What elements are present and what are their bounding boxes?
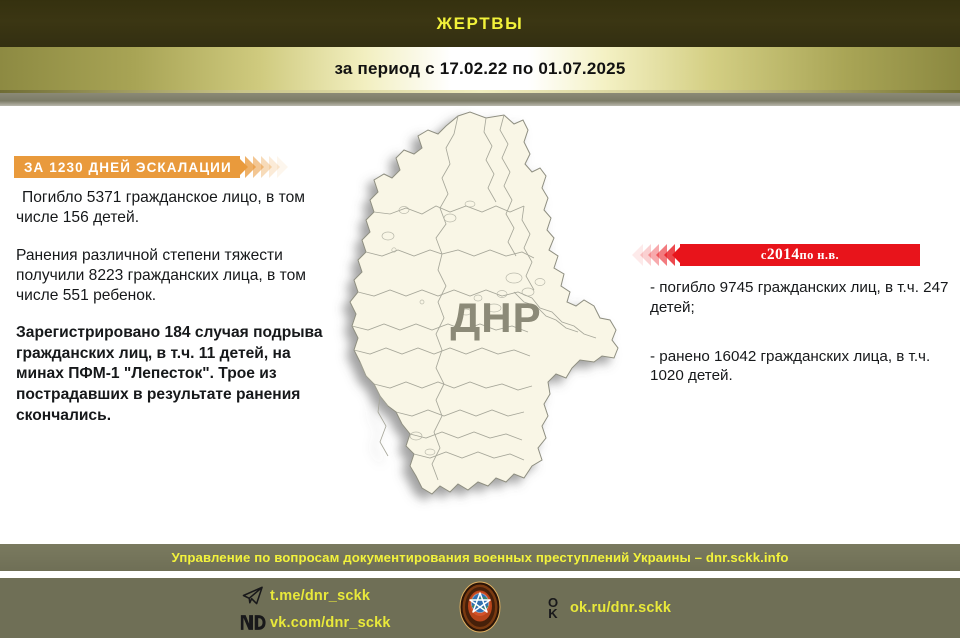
odnoklassniki-link-text: ok.ru/dnr.sckk: [570, 600, 671, 616]
social-link-odnoklassniki[interactable]: O K ok.ru/dnr.sckk: [536, 597, 786, 620]
vk-link-text: vk.com/dnr_sckk: [270, 615, 391, 631]
organization-emblem: [457, 580, 503, 634]
social-links-left: t.me/dnr_sckk vk.com/dnr_sckk: [236, 582, 466, 636]
social-link-vk[interactable]: vk.com/dnr_sckk: [236, 609, 466, 636]
chevron-right-icon: [277, 156, 288, 178]
chevron-left-icon: [664, 244, 675, 266]
stat-paragraph-mines: Зарегистрировано 184 случая подрыва граж…: [16, 323, 326, 426]
vk-icon: [236, 614, 270, 631]
dnr-map: ДНР: [318, 106, 648, 542]
main-stage: ЗА 1230 ДНЕЙ ЭСКАЛАЦИИ Погибло 5371 граж…: [0, 106, 960, 544]
telegram-icon: [236, 586, 270, 605]
ok-glyph-bottom: K: [548, 606, 557, 621]
escalation-stats-text: Погибло 5371 гражданское лицо, в том чис…: [16, 188, 326, 426]
footer-gap: [0, 571, 960, 578]
since-2014-badge: с 2014 по н.в.: [632, 244, 920, 266]
stat-paragraph-killed-2014: - погибло 9745 гражданских лиц, в т.ч. 2…: [650, 278, 950, 318]
escalation-badge-label: ЗА 1230 ДНЕЙ ЭСКАЛАЦИИ: [14, 156, 240, 178]
escalation-badge: ЗА 1230 ДНЕЙ ЭСКАЛАЦИИ: [14, 156, 288, 178]
map-region-label: ДНР: [426, 294, 566, 342]
since-2014-badge-label: с 2014 по н.в.: [680, 244, 920, 266]
ok-glyph: O K: [548, 597, 558, 620]
infographic-poster: ЖЕРТВЫ за период с 17.02.22 по 01.07.202…: [0, 0, 960, 638]
badge-suffix: по н.в.: [799, 248, 839, 263]
chevrons-right-group: [240, 156, 288, 178]
badge-year: 2014: [767, 246, 800, 264]
since-2014-stats-text: - погибло 9745 гражданских лиц, в т.ч. 2…: [650, 278, 950, 386]
stat-paragraph-killed: Погибло 5371 гражданское лицо, в том чис…: [16, 188, 326, 229]
chevrons-left-group: [632, 244, 680, 266]
gray-divider-band: [0, 93, 960, 106]
stat-paragraph-wounded: Ранения различной степени тяжести получи…: [16, 246, 326, 307]
footer-banner-text: Управление по вопросам документирования …: [0, 544, 960, 571]
odnoklassniki-icon: O K: [536, 597, 570, 620]
page-title: ЖЕРТВЫ: [0, 0, 960, 47]
telegram-link-text: t.me/dnr_sckk: [270, 588, 370, 604]
social-link-telegram[interactable]: t.me/dnr_sckk: [236, 582, 466, 609]
stat-paragraph-wounded-2014: - ранено 16042 гражданских лица, в т.ч. …: [650, 347, 950, 387]
period-subtitle: за период с 17.02.22 по 01.07.2025: [0, 47, 960, 90]
